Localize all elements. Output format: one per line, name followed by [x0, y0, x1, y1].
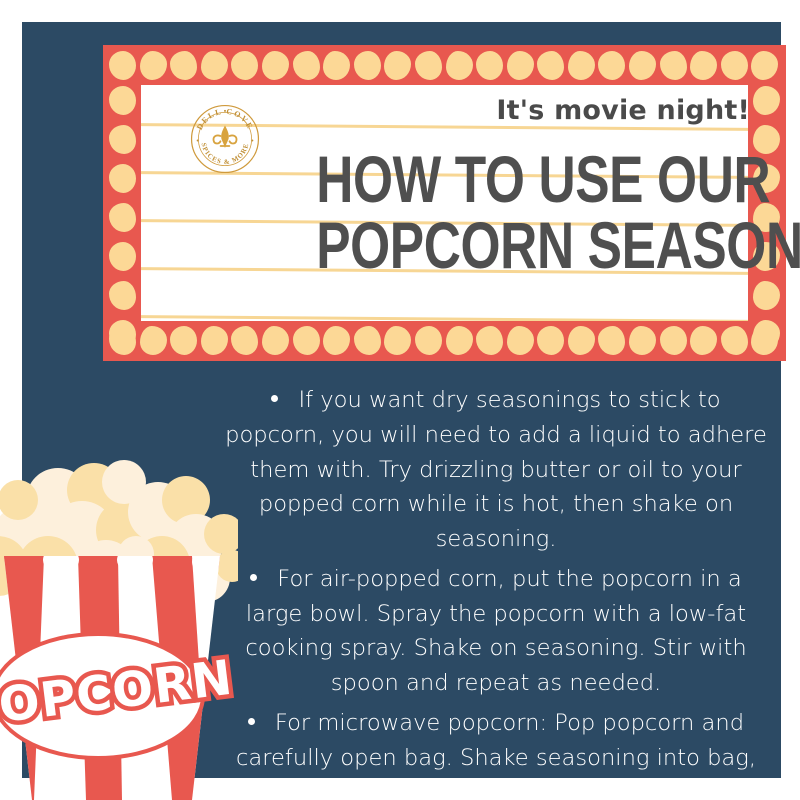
marquee-bulb	[262, 326, 289, 355]
marquee-bulb	[323, 51, 350, 80]
marquee-bulb	[721, 51, 748, 80]
marquee-bulb	[109, 281, 136, 310]
marquee-bulb	[753, 281, 780, 310]
marquee-bulb	[384, 51, 411, 80]
marquee-bulb	[293, 326, 320, 355]
popcorn-bucket: POPCORN	[0, 546, 238, 800]
marquee-bulb	[629, 51, 656, 80]
poster-canvas: DELL COVE SPICES & MORE It's movie night…	[0, 0, 800, 800]
marquee-bulb	[262, 51, 289, 80]
marquee-bulb	[568, 51, 595, 80]
marquee-bulb	[476, 326, 503, 355]
tip-item: If you want dry seasonings to stick to p…	[222, 383, 770, 557]
marquee-bulb	[507, 326, 534, 355]
bullet-dot-icon	[250, 574, 257, 581]
marquee-bulb	[201, 51, 228, 80]
marquee-bulb	[537, 51, 564, 80]
headline-line-2: POPCORN SEASONINGS	[316, 215, 753, 276]
marquee-bulb	[629, 326, 656, 355]
marquee-bulb	[293, 51, 320, 80]
marquee-bulb	[751, 51, 778, 80]
bullet-dot-icon	[271, 395, 278, 402]
headline-line-1: HOW TO USE OUR	[316, 149, 753, 210]
marquee-bulb	[109, 320, 136, 349]
popcorn-bucket-illustration: POPCORN	[0, 438, 238, 800]
marquee-bulb	[170, 326, 197, 355]
marquee-bulb	[140, 51, 167, 80]
marquee-bulb	[690, 326, 717, 355]
marquee-bulb	[109, 203, 136, 232]
marquee-bulb	[415, 326, 442, 355]
marquee-bulb	[598, 51, 625, 80]
marquee-bulb	[170, 51, 197, 80]
marquee-bulb	[660, 326, 687, 355]
marquee-bulb	[721, 326, 748, 355]
marquee-bulb	[201, 326, 228, 355]
marquee-bulb	[109, 164, 136, 193]
bullet-dot-icon	[248, 718, 255, 725]
tip-text: For air-popped corn, put the popcorn in …	[245, 566, 746, 696]
marquee-bulb	[753, 320, 780, 349]
marquee-bulb	[690, 51, 717, 80]
marquee-bulb	[507, 51, 534, 80]
marquee-bulb	[476, 51, 503, 80]
marquee-kicker-text: It's movie night!	[496, 95, 750, 126]
marquee-bulb	[753, 86, 780, 115]
marquee-bulb	[354, 51, 381, 80]
tip-text: If you want dry seasonings to stick to p…	[225, 387, 767, 552]
marquee-bulb	[751, 326, 778, 355]
marquee-bulb	[323, 326, 350, 355]
marquee-bulb	[109, 326, 136, 355]
marquee-bulb	[140, 326, 167, 355]
panel-rule-line	[141, 315, 748, 321]
marquee-bulb	[231, 326, 258, 355]
marquee-bulb	[354, 326, 381, 355]
marquee-sign: DELL COVE SPICES & MORE It's movie night…	[103, 45, 786, 361]
marquee-bulb	[446, 326, 473, 355]
marquee-bulb	[384, 326, 411, 355]
marquee-bulb	[109, 242, 136, 271]
marquee-bulb	[109, 86, 136, 115]
tips-list: If you want dry seasonings to stick to p…	[222, 383, 770, 800]
tip-text: For microwave popcorn: Pop popcorn and c…	[236, 710, 756, 800]
marquee-bulb	[568, 326, 595, 355]
dell-cove-logo: DELL COVE SPICES & MORE	[187, 101, 263, 177]
marquee-bulb	[109, 125, 136, 154]
marquee-bulb	[660, 51, 687, 80]
marquee-bulb	[231, 51, 258, 80]
tip-item: For air-popped corn, put the popcorn in …	[222, 562, 770, 701]
marquee-bulb	[415, 51, 442, 80]
marquee-bulb	[598, 326, 625, 355]
marquee-bulb	[109, 51, 136, 80]
tip-item: For microwave popcorn: Pop popcorn and c…	[222, 706, 770, 800]
marquee-bulb	[537, 326, 564, 355]
marquee-bulb	[446, 51, 473, 80]
